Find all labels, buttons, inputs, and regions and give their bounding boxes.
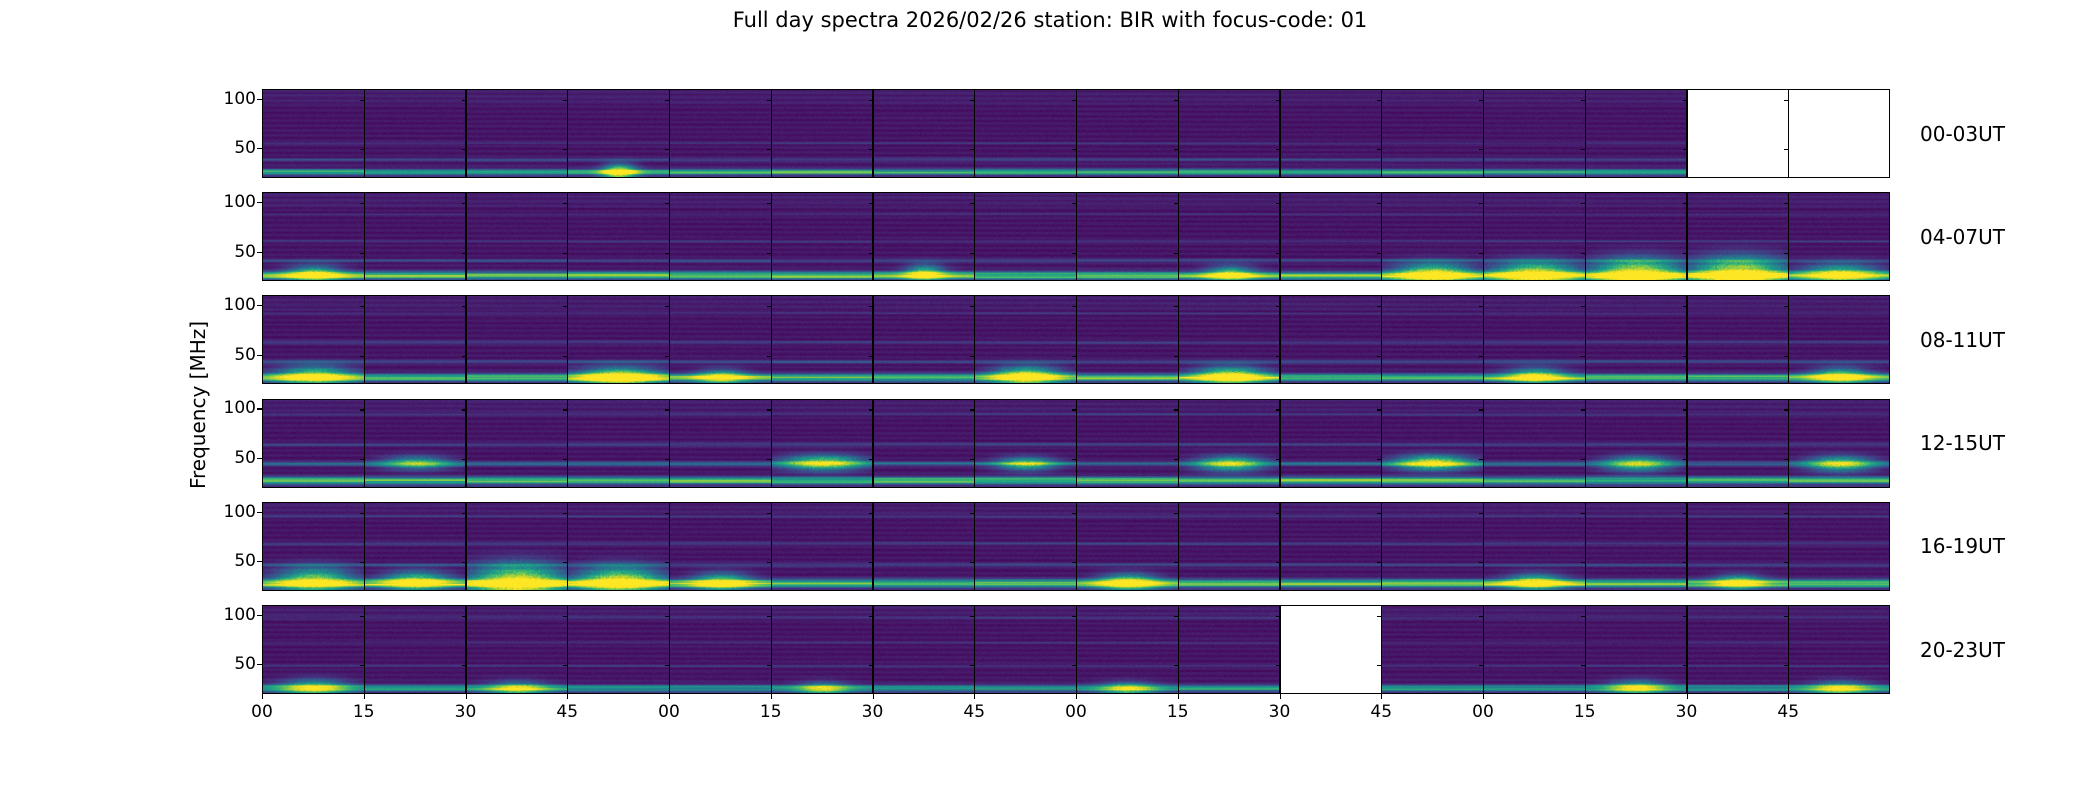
spectrogram-panel[interactable] (568, 90, 670, 177)
y-tick-label: 50 (234, 448, 256, 468)
spectrogram-panel[interactable] (670, 193, 772, 280)
interior-tick-mark (665, 203, 670, 204)
spectrogram-panel[interactable] (1688, 606, 1790, 693)
spectrogram-panel[interactable] (1382, 193, 1484, 280)
interior-tick-mark (665, 562, 670, 563)
spectrogram-image (1179, 296, 1281, 383)
panel-separator (1686, 503, 1687, 590)
spectrogram-panel[interactable] (1077, 503, 1179, 590)
interior-tick-mark (869, 149, 874, 150)
panel-separator (1686, 400, 1687, 487)
interior-tick-mark (767, 459, 772, 460)
spectrogram-panel[interactable] (263, 606, 365, 693)
panel-separator (364, 503, 365, 590)
spectrogram-panel[interactable] (1179, 296, 1281, 383)
interior-tick-mark (1377, 616, 1382, 617)
interior-tick-mark (1581, 665, 1586, 666)
spectrogram-panel[interactable] (874, 503, 976, 590)
spectrogram-image (772, 503, 874, 590)
spectrogram-panel[interactable] (1789, 606, 1890, 693)
spectrogram-panel[interactable] (1281, 90, 1383, 177)
y-tick-mark (257, 252, 262, 253)
interior-tick-mark (1072, 665, 1077, 666)
spectrogram-panel[interactable] (568, 400, 670, 487)
interior-tick-mark (665, 306, 670, 307)
y-tick-mark (257, 615, 262, 616)
interior-tick-mark (1683, 459, 1688, 460)
interior-tick-mark (1072, 356, 1077, 357)
interior-tick-mark (563, 356, 568, 357)
spectrogram-image (1789, 503, 1890, 590)
interior-tick-mark (869, 356, 874, 357)
spectrogram-panel[interactable] (1077, 606, 1179, 693)
panel-separator (1076, 296, 1077, 383)
spectrogram-image (568, 606, 670, 693)
spectrogram-panel[interactable] (263, 193, 365, 280)
spectrogram-image (263, 503, 365, 590)
row-axes[interactable] (262, 399, 1890, 488)
y-tick-mark (257, 148, 262, 149)
x-tick-mark (1178, 694, 1179, 699)
spectrogram-panel[interactable] (1586, 90, 1688, 177)
spectrogram-panel[interactable] (772, 503, 874, 590)
spectrogram-image (568, 503, 670, 590)
spectrogram-panel[interactable] (975, 90, 1077, 177)
interior-tick-mark (1683, 409, 1688, 410)
spectrogram-image (263, 400, 365, 487)
x-tick-label: 15 (1167, 702, 1189, 722)
interior-tick-mark (1683, 100, 1688, 101)
y-tick-label: 50 (234, 345, 256, 365)
panel-separator (771, 400, 772, 487)
interior-tick-mark (1581, 149, 1586, 150)
spectrogram-image (670, 606, 772, 693)
spectrogram-panel[interactable] (365, 503, 467, 590)
spectrogram-panel[interactable] (1077, 296, 1179, 383)
spectrogram-panel[interactable] (975, 503, 1077, 590)
panel-separator (974, 90, 975, 177)
y-tick-mark (257, 355, 262, 356)
spectrogram-panel[interactable] (1789, 503, 1890, 590)
panel-separator (364, 606, 365, 693)
y-tick-mark (257, 664, 262, 665)
spectrogram-panel[interactable] (772, 400, 874, 487)
spectrogram-image (1382, 296, 1484, 383)
spectrogram-panel[interactable] (874, 400, 976, 487)
spectrogram-panel[interactable] (1789, 193, 1890, 280)
panel-separator (1076, 503, 1077, 590)
spectrogram-image (1281, 90, 1383, 177)
spectrogram-panel[interactable] (467, 90, 569, 177)
interior-tick-mark (767, 149, 772, 150)
spectrogram-image (1484, 606, 1586, 693)
interior-tick-mark (462, 100, 467, 101)
spectrogram-panel[interactable] (1484, 503, 1586, 590)
panel-separator (1483, 193, 1484, 280)
interior-tick-mark (360, 149, 365, 150)
panel-separator (1483, 503, 1484, 590)
interior-tick-mark (1276, 562, 1281, 563)
x-tick-label: 15 (1574, 702, 1596, 722)
interior-tick-mark (1174, 253, 1179, 254)
spectrogram-panel[interactable] (1688, 90, 1790, 177)
spectrogram-image (1382, 90, 1484, 177)
spectrogram-panel[interactable] (1484, 606, 1586, 693)
spectrogram-panel[interactable] (1586, 193, 1688, 280)
spectrogram-panel[interactable] (263, 296, 365, 383)
interior-tick-mark (360, 253, 365, 254)
spectrogram-panel[interactable] (467, 296, 569, 383)
spectrogram-image (1281, 400, 1383, 487)
interior-tick-mark (1276, 459, 1281, 460)
interior-tick-mark (563, 409, 568, 410)
x-tick-mark (974, 694, 975, 699)
spectrogram-panel[interactable] (1789, 400, 1890, 487)
interior-tick-mark (1377, 513, 1382, 514)
spectrogram-panel[interactable] (772, 90, 874, 177)
spectrogram-panel[interactable] (1586, 400, 1688, 487)
spectrogram-panel[interactable] (467, 606, 569, 693)
interior-tick-mark (1072, 149, 1077, 150)
spectrogram-panel[interactable] (1688, 503, 1790, 590)
interior-tick-mark (869, 306, 874, 307)
spectrogram-panel[interactable] (1077, 193, 1179, 280)
x-tick-label: 15 (760, 702, 782, 722)
interior-tick-mark (1581, 562, 1586, 563)
panel-separator (364, 90, 365, 177)
spectrogram-row: 1005008-11UT (262, 295, 1890, 384)
interior-tick-mark (1683, 513, 1688, 514)
interior-tick-mark (1174, 356, 1179, 357)
interior-tick-mark (970, 356, 975, 357)
spectrogram-image (1382, 400, 1484, 487)
interior-tick-mark (462, 665, 467, 666)
spectrogram-panel[interactable] (772, 606, 874, 693)
panel-separator (1279, 400, 1280, 487)
interior-tick-mark (1377, 306, 1382, 307)
row-axes[interactable] (262, 502, 1890, 591)
x-tick-label: 00 (251, 702, 273, 722)
interior-tick-mark (970, 616, 975, 617)
spectrogram-panel[interactable] (670, 606, 772, 693)
interior-tick-mark (462, 459, 467, 460)
spectrogram-panel[interactable] (874, 90, 976, 177)
spectrogram-image (1586, 606, 1688, 693)
interior-tick-mark (1072, 616, 1077, 617)
spectrogram-image (1789, 606, 1890, 693)
spectrogram-image (670, 296, 772, 383)
interior-tick-mark (665, 356, 670, 357)
spectrogram-panel[interactable] (1586, 606, 1688, 693)
spectrogram-panel[interactable] (1789, 296, 1890, 383)
interior-tick-mark (1581, 409, 1586, 410)
interior-tick-mark (767, 203, 772, 204)
spectrogram-image (1586, 193, 1688, 280)
interior-tick-mark (1479, 459, 1484, 460)
row-axes[interactable] (262, 295, 1890, 384)
spectrogram-panel[interactable] (1586, 503, 1688, 590)
y-tick-mark (257, 202, 262, 203)
spectrogram-panel[interactable] (1789, 90, 1890, 177)
interior-tick-mark (970, 513, 975, 514)
row-label: 04-07UT (1920, 225, 2005, 249)
panel-separator (974, 296, 975, 383)
interior-tick-mark (1072, 513, 1077, 514)
interior-tick-mark (665, 409, 670, 410)
panel-separator (1585, 90, 1586, 177)
y-tick-mark (257, 408, 262, 409)
interior-tick-mark (767, 409, 772, 410)
spectrogram-panel[interactable] (467, 400, 569, 487)
spectrogram-image (365, 193, 467, 280)
spectrogram-image (1077, 400, 1179, 487)
y-axis-label: Frequency [MHz] (183, 90, 213, 720)
interior-tick-mark (462, 203, 467, 204)
spectrogram-panel[interactable] (874, 193, 976, 280)
spectrogram-panel[interactable] (1281, 193, 1383, 280)
interior-tick-mark (563, 203, 568, 204)
spectrogram-panel[interactable] (670, 503, 772, 590)
interior-tick-mark (665, 665, 670, 666)
interior-tick-mark (1784, 616, 1789, 617)
panel-separator (669, 90, 670, 177)
x-tick-mark (364, 694, 365, 699)
spectrogram-image (1077, 503, 1179, 590)
spectrogram-panel[interactable] (975, 193, 1077, 280)
spectrogram-panel[interactable] (1179, 193, 1281, 280)
spectrogram-panel[interactable] (670, 400, 772, 487)
spectrogram-image (1179, 400, 1281, 487)
panel-separator (364, 400, 365, 487)
spectrogram-image (1179, 193, 1281, 280)
interior-tick-mark (1479, 665, 1484, 666)
interior-tick-mark (1683, 356, 1688, 357)
spectrogram-panel[interactable] (1281, 606, 1383, 693)
interior-tick-mark (1174, 409, 1179, 410)
x-tick-label: 45 (1370, 702, 1392, 722)
x-tick-mark (567, 694, 568, 699)
y-tick-mark (257, 512, 262, 513)
spectrogram-panel[interactable] (1382, 400, 1484, 487)
spectrogram-panel[interactable] (263, 90, 365, 177)
panel-separator (872, 296, 873, 383)
spectrogram-panel[interactable] (1688, 400, 1790, 487)
panel-separator (1381, 296, 1382, 383)
spectrogram-panel[interactable] (1179, 503, 1281, 590)
spectrogram-image (772, 90, 874, 177)
spectrogram-panel[interactable] (365, 193, 467, 280)
spectrogram-panel[interactable] (1382, 606, 1484, 693)
row-axes[interactable] (262, 89, 1890, 178)
interior-tick-mark (1683, 665, 1688, 666)
spectrogram-image (263, 296, 365, 383)
spectrogram-image (772, 193, 874, 280)
panel-separator (364, 296, 365, 383)
spectrogram-panel[interactable] (1484, 90, 1586, 177)
interior-tick-mark (1174, 203, 1179, 204)
x-tick-mark (1585, 694, 1586, 699)
interior-tick-mark (1276, 253, 1281, 254)
panel-separator (1788, 90, 1789, 177)
spectrogram-panel[interactable] (365, 296, 467, 383)
interior-tick-mark (1072, 459, 1077, 460)
panel-separator (974, 606, 975, 693)
spectrogram-panel[interactable] (1179, 90, 1281, 177)
interior-tick-mark (1276, 356, 1281, 357)
y-tick-label: 100 (224, 295, 256, 315)
spectrogram-image (670, 193, 772, 280)
interior-tick-mark (563, 306, 568, 307)
spectrogram-panel[interactable] (365, 90, 467, 177)
spectrogram-panel[interactable] (975, 606, 1077, 693)
interior-tick-mark (563, 149, 568, 150)
panel-separator (771, 606, 772, 693)
x-tick-label: 00 (658, 702, 680, 722)
spectrogram-image (772, 400, 874, 487)
interior-tick-mark (767, 253, 772, 254)
interior-tick-mark (970, 149, 975, 150)
interior-tick-mark (462, 253, 467, 254)
spectrogram-panel[interactable] (1179, 606, 1281, 693)
interior-tick-mark (1377, 665, 1382, 666)
spectrogram-panel[interactable] (975, 400, 1077, 487)
interior-tick-mark (1479, 513, 1484, 514)
interior-tick-mark (970, 100, 975, 101)
interior-tick-mark (462, 513, 467, 514)
interior-tick-mark (1377, 562, 1382, 563)
x-tick-label: 30 (1269, 702, 1291, 722)
spectrogram-panel[interactable] (568, 296, 670, 383)
interior-tick-mark (1683, 203, 1688, 204)
interior-tick-mark (869, 665, 874, 666)
panel-separator (567, 400, 568, 487)
panel-separator (1686, 193, 1687, 280)
interior-tick-mark (1784, 203, 1789, 204)
panel-separator (1788, 606, 1789, 693)
spectrogram-panel[interactable] (1484, 296, 1586, 383)
spectrogram-panel[interactable] (874, 606, 976, 693)
spectrogram-image (874, 606, 976, 693)
interior-tick-mark (563, 616, 568, 617)
spectrogram-image (874, 296, 976, 383)
interior-tick-mark (360, 459, 365, 460)
spectrogram-panel[interactable] (975, 296, 1077, 383)
row-axes[interactable] (262, 192, 1890, 281)
spectrogram-panel[interactable] (568, 606, 670, 693)
interior-tick-mark (1479, 562, 1484, 563)
x-tick-mark (1687, 694, 1688, 699)
spectrogram-panel[interactable] (1077, 400, 1179, 487)
interior-tick-mark (1581, 459, 1586, 460)
interior-tick-mark (1479, 409, 1484, 410)
panel-separator (465, 90, 466, 177)
spectrogram-panel[interactable] (1688, 296, 1790, 383)
spectrogram-image (365, 503, 467, 590)
spectrogram-image (975, 606, 1077, 693)
spectrogram-panel[interactable] (1281, 503, 1383, 590)
interior-tick-mark (360, 665, 365, 666)
interior-tick-mark (1784, 149, 1789, 150)
spectrogram-panel[interactable] (670, 296, 772, 383)
panel-separator (1686, 90, 1687, 177)
spectrogram-panel[interactable] (365, 400, 467, 487)
spectrogram-panel[interactable] (467, 503, 569, 590)
spectrogram-panel[interactable] (1484, 193, 1586, 280)
spectrogram-panel[interactable] (1281, 296, 1383, 383)
spectrogram-image (1688, 400, 1790, 487)
spectrogram-image (568, 90, 670, 177)
interior-tick-mark (1072, 306, 1077, 307)
interior-tick-mark (563, 513, 568, 514)
spectrogram-image (365, 90, 467, 177)
spectrogram-image (1484, 90, 1586, 177)
interior-tick-mark (1784, 459, 1789, 460)
y-tick-label: 100 (224, 502, 256, 522)
interior-tick-mark (1683, 253, 1688, 254)
panel-separator (1178, 296, 1179, 383)
interior-tick-mark (360, 100, 365, 101)
spectrogram-row: 1005004-07UT (262, 192, 1890, 281)
panel-separator (771, 503, 772, 590)
interior-tick-mark (462, 306, 467, 307)
spectrogram-panel[interactable] (1077, 90, 1179, 177)
spectrogram-panel[interactable] (365, 606, 467, 693)
interior-tick-mark (563, 562, 568, 563)
panel-separator (1381, 503, 1382, 590)
spectrogram-panel[interactable] (874, 296, 976, 383)
spectrogram-row: 1005012-15UT (262, 399, 1890, 488)
x-tick-mark (1381, 694, 1382, 699)
spectrogram-image (1077, 193, 1179, 280)
spectrogram-image (1179, 503, 1281, 590)
panel-separator (1585, 400, 1586, 487)
panel-separator (1076, 90, 1077, 177)
x-tick-label: 30 (455, 702, 477, 722)
spectrogram-image (1586, 400, 1688, 487)
spectrogram-panel[interactable] (1688, 193, 1790, 280)
spectrogram-panel[interactable] (1382, 90, 1484, 177)
spectrogram-image (1077, 296, 1179, 383)
spectrogram-panel[interactable] (772, 193, 874, 280)
spectrogram-image (467, 296, 569, 383)
interior-tick-mark (1377, 149, 1382, 150)
interior-tick-mark (767, 665, 772, 666)
interior-tick-mark (665, 149, 670, 150)
spectrogram-panel[interactable] (263, 400, 365, 487)
spectrogram-image (467, 503, 569, 590)
spectrogram-panel[interactable] (772, 296, 874, 383)
spectrogram-panel[interactable] (568, 193, 670, 280)
y-axis-label-text: Frequency [MHz] (186, 321, 210, 489)
spectrogram-image (1484, 503, 1586, 590)
spectrogram-panel[interactable] (1281, 400, 1383, 487)
spectrogram-panel[interactable] (263, 503, 365, 590)
spectrogram-panel[interactable] (1382, 296, 1484, 383)
spectrogram-panel[interactable] (1586, 296, 1688, 383)
interior-tick-mark (462, 149, 467, 150)
spectrogram-panel[interactable] (1179, 400, 1281, 487)
interior-tick-mark (1174, 665, 1179, 666)
spectrogram-panel[interactable] (670, 90, 772, 177)
y-tick-mark (257, 561, 262, 562)
spectrogram-panel[interactable] (467, 193, 569, 280)
spectrogram-panel[interactable] (568, 503, 670, 590)
spectrogram-panel[interactable] (1382, 503, 1484, 590)
interior-tick-mark (462, 356, 467, 357)
spectrogram-panel[interactable] (1484, 400, 1586, 487)
row-axes[interactable] (262, 605, 1890, 694)
interior-tick-mark (563, 459, 568, 460)
